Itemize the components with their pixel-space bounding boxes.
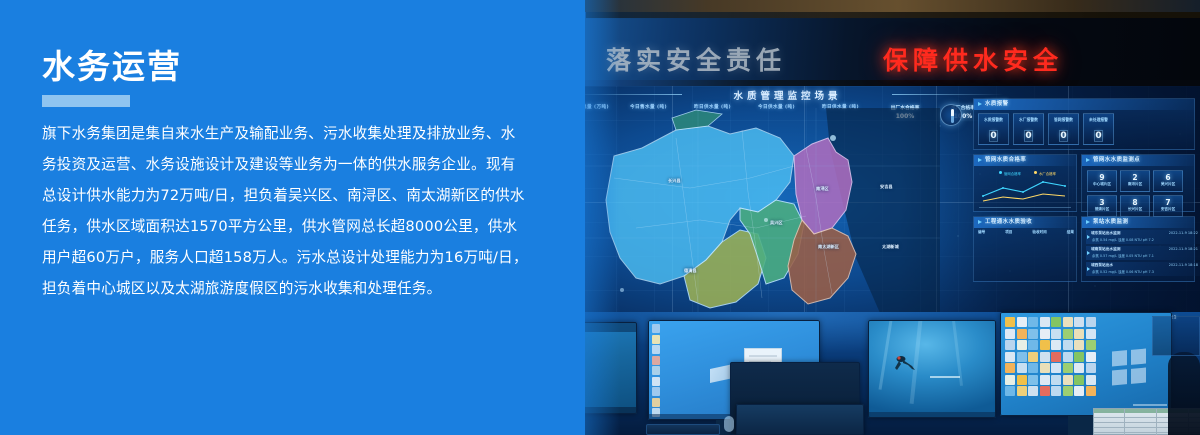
site-value: 6	[1154, 173, 1182, 182]
map-region-label: 德清县	[684, 268, 697, 274]
record-timestamp: 2022-11-9 18:18	[1169, 263, 1198, 267]
quality-rate-chart: 管网合格率 水厂合格率	[979, 170, 1071, 208]
site-cell[interactable]: 8 长兴片区	[1120, 195, 1150, 217]
alarm-card-label: 水厂报警数	[1014, 117, 1043, 123]
site-value: 3	[1088, 198, 1116, 207]
column-header: 结果	[1067, 230, 1074, 235]
monitoring-site-grid: 9 中心城片区 2 南浔片区 6 吴兴片区 3 德清片区	[1087, 170, 1183, 217]
site-cell[interactable]: 6 吴兴片区	[1153, 170, 1183, 192]
panel-project-acceptance[interactable]: 工程通水水质验收 编号 项目 验收时间 结果	[973, 216, 1077, 282]
panel-title: 管网水水质监测点	[1082, 155, 1194, 166]
station-record[interactable]: 城南泵站出水监测 2022-11-9 18:21 余氯 0.57 mg/L 浊度…	[1086, 246, 1200, 260]
led-banner-wall: 落实安全责任 保障供水安全	[558, 18, 1200, 80]
panel-title: 管网水质合格率	[974, 155, 1076, 166]
site-name: 德清片区	[1088, 207, 1116, 212]
record-metrics: 余氯 0.52 mg/L 浊度 0.06 NTU pH 7.3	[1092, 269, 1154, 274]
site-name: 南浔片区	[1121, 182, 1149, 187]
map-region-label: 南太湖新区	[818, 244, 839, 250]
description-line: 任务，供水区域面积达1570平方公里，供水管网总长超8000公里，供水	[42, 211, 542, 242]
site-name: 中心城片区	[1088, 182, 1116, 187]
legend-label: 水厂合格率	[1039, 171, 1056, 176]
station-record-list: 城东泵站出水监测 2022-11-9 18:22 余氯 0.54 mg/L 浊度…	[1086, 230, 1200, 278]
description-line: 用户超60万户，服务人口超158万人。污水总设计处理能力为16万吨/日，	[42, 242, 542, 273]
alarm-card-label: 管网报警数	[1049, 117, 1078, 123]
description-line: 务投资及运营、水务设施设计及建设等业务为一体的供水服务企业。现有	[42, 149, 542, 180]
map-region-label: 南浔区	[816, 186, 829, 192]
alarm-card-list: 水质报警数 0 水厂报警数 0 管网报警数 0 未处理报警 0	[978, 113, 1114, 145]
control-room-photo: 落实安全责任 保障供水安全 水质管理监控场景 今日供水总量 (万吨) 今日售水量…	[540, 0, 1200, 435]
monitor-diver[interactable]	[868, 320, 996, 418]
alarm-card-value: 0	[1094, 130, 1102, 142]
site-cell[interactable]: 3 德清片区	[1087, 195, 1117, 217]
column-header: 项目	[1005, 230, 1012, 235]
site-name: 长兴片区	[1121, 207, 1149, 212]
site-value: 8	[1121, 198, 1149, 207]
site-cell[interactable]: 9 中心城片区	[1087, 170, 1117, 192]
map-region-label: 长兴县	[668, 178, 681, 184]
panel-title: 泵站水质监测	[1082, 217, 1194, 228]
record-timestamp: 2022-11-9 18:22	[1169, 231, 1198, 235]
banner-slogan-left: 落实安全责任	[606, 41, 786, 77]
wall-screen-right	[1152, 316, 1200, 356]
description-line: 总设计供水能力为72万吨/日，担负着吴兴区、南浔区、南太湖新区的供水	[42, 180, 542, 211]
keyboard[interactable]	[646, 424, 720, 435]
alarm-card[interactable]: 管网报警数 0	[1048, 113, 1079, 145]
alarm-card-label: 水质报警数	[979, 117, 1008, 123]
alarm-card[interactable]: 水质报警数 0	[978, 113, 1009, 145]
dashboard-title-wing-right	[892, 94, 1004, 95]
legend-dot	[1034, 171, 1037, 174]
person-silhouette	[1168, 352, 1200, 435]
dashboard-screen: 水质管理监控场景 今日供水总量 (万吨) 今日售水量 (吨) 昨日供水量 (吨)…	[540, 86, 1200, 318]
acceptance-table-header: 编号 项目 验收时间 结果	[978, 230, 1074, 235]
site-name: 吴兴片区	[1154, 182, 1182, 187]
alarm-card[interactable]: 水厂报警数 0	[1013, 113, 1044, 145]
alarm-card-value: 0	[1024, 130, 1032, 142]
monitor-bezel	[736, 404, 864, 435]
monitor-windows-desktop[interactable]	[1000, 312, 1172, 416]
dashboard-title: 水质管理监控场景	[685, 88, 890, 102]
title-accent-bar	[42, 95, 130, 107]
station-record[interactable]: 城东泵站出水监测 2022-11-9 18:22 余氯 0.54 mg/L 浊度…	[1086, 230, 1200, 244]
site-name: 安吉片区	[1154, 207, 1182, 212]
site-cell[interactable]: 7 安吉片区	[1153, 195, 1183, 217]
chart-axis	[979, 207, 1071, 208]
alarm-card[interactable]: 未处理报警 0	[1083, 113, 1114, 145]
panel-station-quality[interactable]: 泵站水质监测 城东泵站出水监测 2022-11-9 18:22 余氯 0.54 …	[1081, 216, 1195, 282]
station-record[interactable]: 城西泵站出水 2022-11-9 18:18 余氯 0.52 mg/L 浊度 0…	[1086, 262, 1200, 276]
panel-title: 工程通水水质验收	[974, 217, 1076, 228]
record-name: 城西泵站出水	[1091, 263, 1113, 268]
desk-light-blob	[724, 416, 734, 432]
record-name: 城东泵站出水监测	[1091, 231, 1121, 236]
hero-banner: 落实安全责任 保障供水安全 水质管理监控场景 今日供水总量 (万吨) 今日售水量…	[0, 0, 1200, 435]
panel-water-quality-alarm[interactable]: 水质报警 水质报警数 0 水厂报警数 0 管网报警数 0 未	[973, 98, 1195, 150]
map-region-label: 吴兴区	[770, 220, 783, 226]
monitor-bezel	[868, 320, 996, 418]
spreadsheet-gridline	[1156, 409, 1157, 435]
record-metrics: 余氯 0.57 mg/L 浊度 0.05 NTU pH 7.1	[1092, 253, 1154, 258]
panel-title: 水质报警	[974, 99, 1194, 110]
site-value: 2	[1121, 173, 1149, 182]
map-region-label: 太湖新城	[882, 244, 899, 250]
record-name: 城南泵站出水监测	[1091, 247, 1121, 252]
record-timestamp: 2022-11-9 18:21	[1169, 247, 1198, 251]
region-map: 吴兴区 南浔区 南太湖新区 德清县 长兴县 安吉县 太湖新城	[580, 108, 940, 313]
site-value: 9	[1088, 173, 1116, 182]
record-metrics: 余氯 0.54 mg/L 浊度 0.08 NTU pH 7.2	[1092, 237, 1154, 242]
description-line: 担负着中心城区以及太湖旅游度假区的污水收集和处理任务。	[42, 273, 542, 304]
alarm-card-value: 0	[1059, 130, 1067, 142]
map-region-label: 安吉县	[880, 184, 893, 190]
compass-icon	[940, 104, 962, 126]
description-line: 旗下水务集团是集自来水生产及输配业务、污水收集处理及排放业务、水	[42, 118, 542, 149]
spreadsheet-gridline	[1124, 409, 1125, 435]
site-cell[interactable]: 2 南浔片区	[1120, 170, 1150, 192]
site-value: 7	[1154, 198, 1182, 207]
ceiling-wood-trim	[570, 0, 1200, 12]
page-title: 水务运营	[42, 50, 182, 83]
column-header: 编号	[978, 230, 985, 235]
alarm-card-label: 未处理报警	[1084, 117, 1113, 123]
alarm-card-value: 0	[989, 130, 997, 142]
banner-slogan-right: 保障供水安全	[883, 41, 1063, 77]
panel-pipe-quality-rate[interactable]: 管网水质合格率 管网合格率 水厂合格率	[973, 154, 1077, 212]
legend-label: 管网合格率	[1004, 171, 1021, 176]
column-header: 验收时间	[1032, 230, 1046, 235]
panel-monitoring-sites[interactable]: 管网水水质监测点 9 中心城片区 2 南浔片区 6 吴兴片区	[1081, 154, 1195, 212]
legend-dot	[999, 171, 1002, 174]
monitor-bezel	[1000, 312, 1172, 416]
description-paragraph: 旗下水务集团是集自来水生产及输配业务、污水收集处理及排放业务、水 务投资及运营、…	[42, 118, 542, 304]
monitor-spreadsheet-frame	[736, 404, 864, 435]
